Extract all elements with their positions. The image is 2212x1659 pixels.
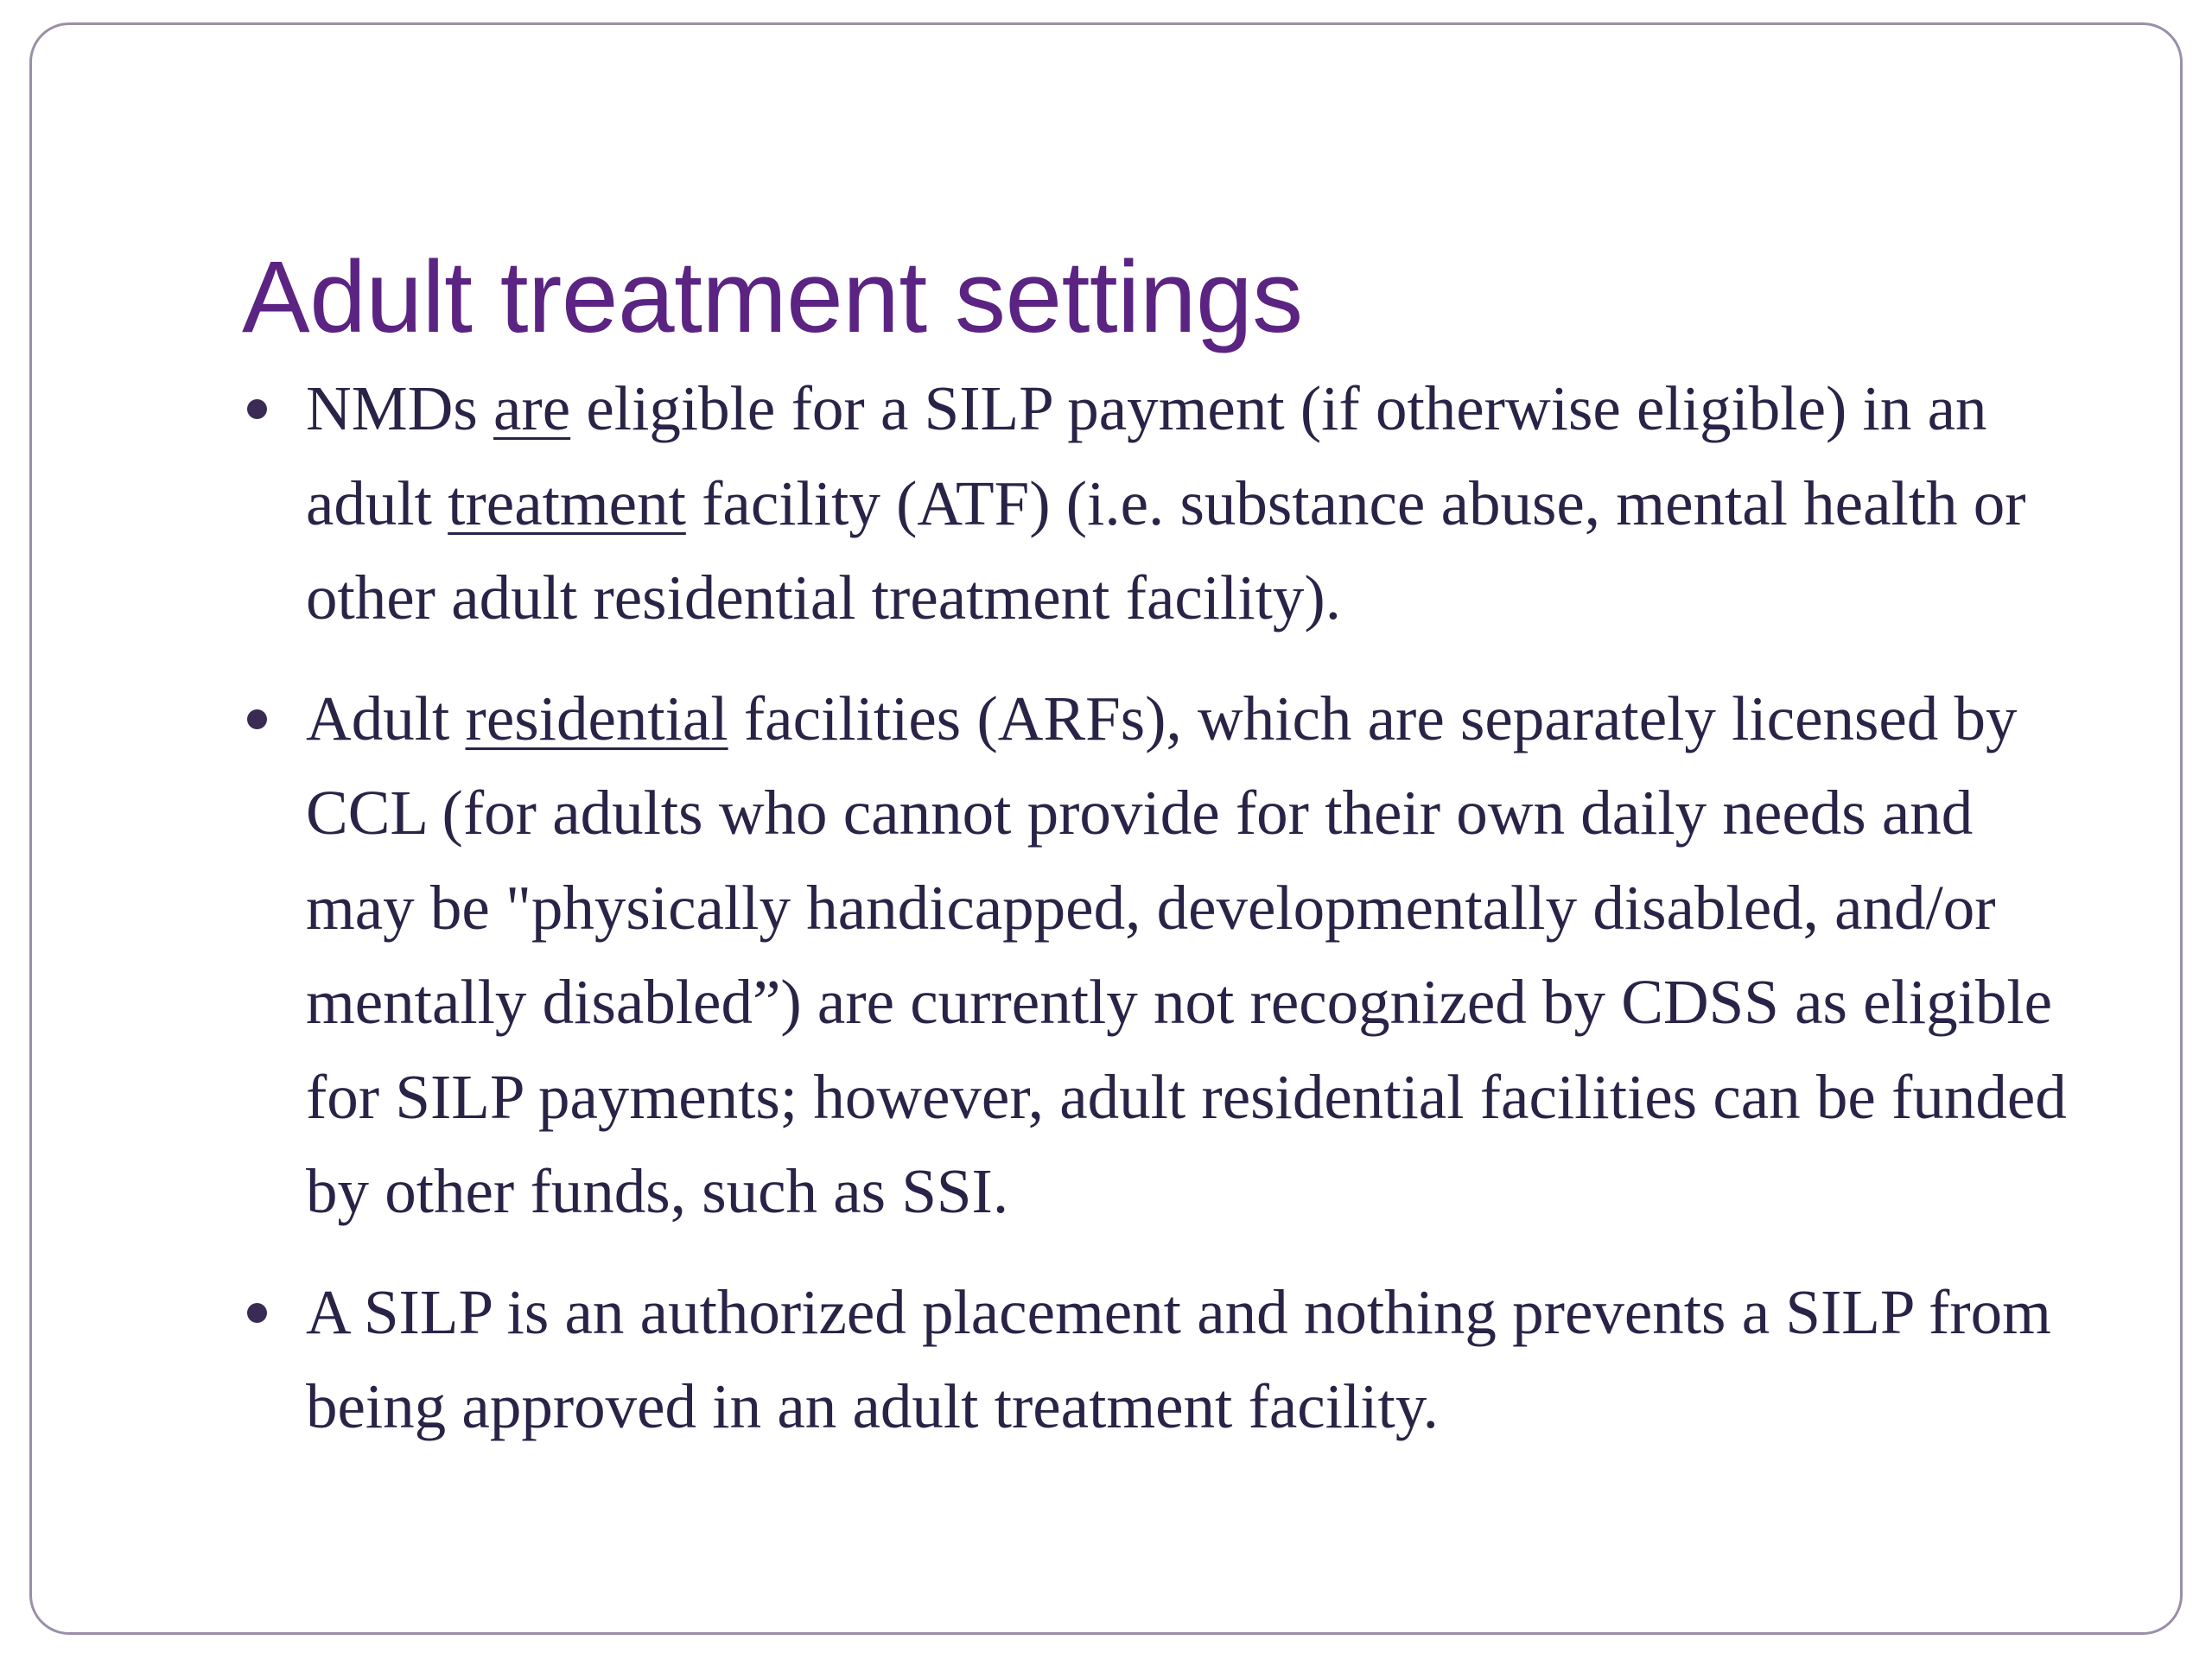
text-segment-underlined: treatment xyxy=(448,468,686,538)
bullet-list: NMDs are eligible for a SILP payment (if… xyxy=(235,361,2093,1454)
bullet-dot-icon xyxy=(247,399,267,419)
presentation-slide: Adult treatment settings NMDs are eligib… xyxy=(0,0,2212,1659)
page-title: Adult treatment settings xyxy=(242,246,1303,348)
text-segment: Adult xyxy=(306,683,466,753)
bullet-dot-icon xyxy=(247,709,267,729)
bullet-dot-icon xyxy=(247,1303,267,1323)
list-item: A SILP is an authorized placement and no… xyxy=(235,1265,2093,1454)
list-item-text: NMDs are eligible for a SILP payment (if… xyxy=(306,373,2026,632)
text-segment: NMDs xyxy=(306,373,493,443)
list-item: Adult residential facilities (ARFs), whi… xyxy=(235,671,2093,1239)
text-segment-underlined: residential xyxy=(466,683,728,753)
list-item-text: A SILP is an authorized placement and no… xyxy=(306,1277,2051,1442)
text-segment-underlined: are xyxy=(493,373,570,443)
list-item: NMDs are eligible for a SILP payment (if… xyxy=(235,361,2093,645)
text-segment: A SILP is an authorized placement and no… xyxy=(306,1277,2051,1442)
list-item-text: Adult residential facilities (ARFs), whi… xyxy=(306,683,2067,1227)
text-segment: facilities (ARFs), which are separately … xyxy=(306,683,2067,1227)
